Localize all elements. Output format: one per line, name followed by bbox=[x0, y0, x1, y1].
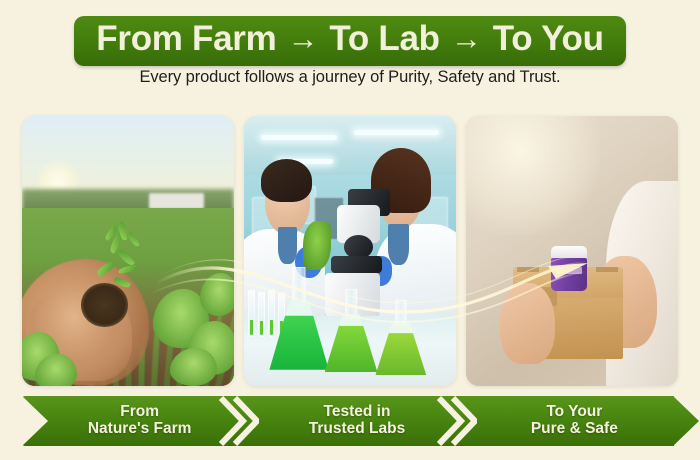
jar-lid bbox=[551, 246, 587, 260]
step-delivery[interactable]: To Your Pure & Safe bbox=[457, 396, 674, 446]
title-segment-you: To You bbox=[493, 21, 604, 58]
panel-delivery: Hands holding an open cardboard box cont… bbox=[466, 116, 678, 386]
flask-small bbox=[375, 300, 426, 376]
farm-building bbox=[149, 193, 204, 209]
flask-large bbox=[269, 267, 328, 370]
flask-medium bbox=[325, 289, 378, 373]
arrow-right-icon-2: → bbox=[451, 23, 482, 54]
seedling-leaf bbox=[127, 231, 140, 248]
scientist-right-collar bbox=[388, 224, 409, 265]
step-farm-line2: Nature's Farm bbox=[88, 420, 192, 437]
step-farm-label: From Nature's Farm bbox=[70, 404, 192, 437]
step-lab-line1: Tested in bbox=[324, 403, 391, 420]
ceiling-light-1 bbox=[261, 135, 337, 140]
step-delivery-line1: To Your bbox=[546, 403, 602, 420]
test-tube bbox=[248, 289, 255, 338]
microscope-stage bbox=[331, 256, 382, 272]
step-delivery-line2: Pure & Safe bbox=[531, 420, 618, 437]
title-segment-farm: From Farm bbox=[96, 21, 276, 58]
panel-farm: Farmer's hands holding a young green see… bbox=[22, 116, 234, 386]
test-tube bbox=[258, 291, 265, 338]
plant-sample bbox=[303, 221, 331, 270]
seedling-leaf bbox=[96, 261, 116, 276]
process-step-bar: From Nature's Farm Tested in Trusted Lab… bbox=[22, 396, 674, 446]
ceiling-light-2 bbox=[354, 130, 439, 135]
farm-scene bbox=[22, 116, 234, 386]
seedling-leaf bbox=[112, 275, 130, 290]
title-segment-lab: To Lab bbox=[329, 21, 439, 58]
panel-lab: Two scientists in white lab coats examin… bbox=[244, 116, 456, 386]
seedling bbox=[92, 224, 164, 300]
warm-light-glow bbox=[466, 116, 600, 235]
supplement-jar bbox=[551, 246, 587, 292]
scientist-left-hair bbox=[261, 159, 312, 202]
panel-row: Farmer's hands holding a young green see… bbox=[22, 116, 678, 386]
header-banner-wrapper: From Farm → To Lab → To You bbox=[0, 16, 700, 66]
box-flap-left bbox=[517, 267, 539, 272]
jar-body bbox=[551, 258, 587, 291]
step-lab-label: Tested in Trusted Labs bbox=[291, 404, 405, 437]
seedling-leaf bbox=[118, 265, 137, 274]
title-banner: From Farm → To Lab → To You bbox=[74, 16, 625, 66]
step-farm-line1: From bbox=[120, 403, 159, 420]
scientist-left-collar bbox=[278, 227, 297, 265]
subtitle-text: Every product follows a journey of Purit… bbox=[0, 68, 700, 87]
foreground-plant bbox=[170, 348, 217, 386]
jar-label bbox=[556, 267, 582, 274]
box-flap-right bbox=[596, 267, 618, 272]
seedling-leaf bbox=[117, 248, 136, 268]
delivery-scene bbox=[466, 116, 678, 386]
lab-scene bbox=[244, 116, 456, 386]
hand-left bbox=[500, 283, 555, 364]
step-lab[interactable]: Tested in Trusted Labs bbox=[239, 396, 456, 446]
step-left-notch bbox=[22, 396, 48, 446]
step-lab-line2: Trusted Labs bbox=[309, 420, 405, 437]
step-farm[interactable]: From Nature's Farm bbox=[22, 396, 239, 446]
arrow-right-icon: → bbox=[287, 23, 318, 54]
step-delivery-label: To Your Pure & Safe bbox=[513, 404, 618, 437]
step-bar-arrow-tip bbox=[673, 396, 699, 446]
